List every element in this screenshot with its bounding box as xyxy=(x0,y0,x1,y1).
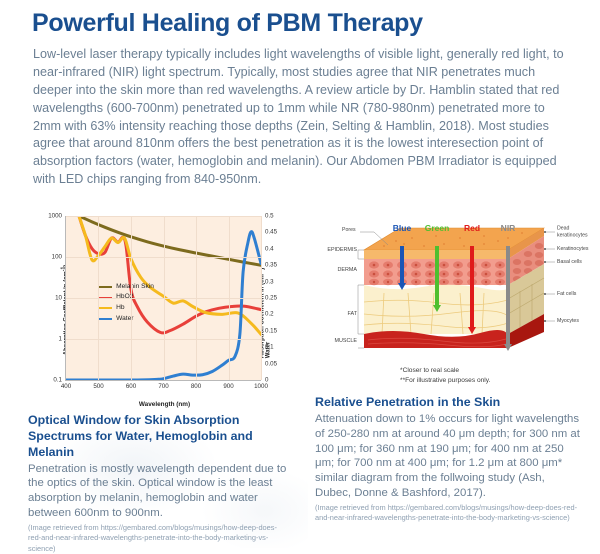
chart-legend: Melanin SkinHbO2HbWater xyxy=(99,282,154,325)
beam-label-green: Green xyxy=(425,223,450,233)
poster-page: Powerful Healing of PBM Therapy Low-leve… xyxy=(0,0,600,548)
chart-ytick-right: 0.1 xyxy=(265,344,274,351)
chart-gridline-h xyxy=(66,339,261,340)
legend-item-hb: Hb xyxy=(99,303,154,314)
caption-left-title: Optical Window for Skin Absorption Spect… xyxy=(28,413,290,461)
footnote-scale: *Closer to real scale xyxy=(400,366,490,376)
chart-gridline-h xyxy=(66,298,261,299)
chart-ytick-left: 1000 xyxy=(48,213,62,220)
chart-xtick: 600 xyxy=(126,383,136,390)
chart-ytick-right: 0.05 xyxy=(265,360,277,367)
cell-label-fat-cells: Fat cells xyxy=(557,291,597,298)
caption-left-body: Penetration is mostly wavelength depende… xyxy=(28,462,290,521)
absorption-chart: Absorption Coefficient in (cm-1)Melanin,… xyxy=(22,212,307,407)
chart-gridline-h xyxy=(66,216,261,217)
caption-right-source: (Image retrieved from https://gembared.c… xyxy=(315,503,583,524)
beam-arrow-blue xyxy=(400,246,404,284)
intro-paragraph: Low-level laser therapy typically includ… xyxy=(33,46,569,189)
page-title: Powerful Healing of PBM Therapy xyxy=(32,9,423,38)
diagram-footnotes: *Closer to real scale **For illustrative… xyxy=(400,366,490,386)
beam-arrowhead-icon xyxy=(433,305,441,312)
footnote-illustrative: **For illustrative purposes only. xyxy=(400,376,490,386)
chart-ytick-right: 0.15 xyxy=(265,327,277,334)
chart-xtick: 400 xyxy=(61,383,71,390)
legend-item-water: Water xyxy=(99,314,154,325)
legend-swatch-icon xyxy=(99,318,112,320)
beam-arrowhead-icon xyxy=(398,283,406,290)
chart-ytick-right: 0.25 xyxy=(265,295,277,302)
legend-label: Hb xyxy=(116,303,124,314)
chart-plot-area: Melanin SkinHbO2HbWater 0.1110100100000.… xyxy=(65,216,261,381)
beam-label-blue: Blue xyxy=(393,223,411,233)
beam-arrow-green xyxy=(435,246,439,306)
layer-label-muscle: MUSCLE xyxy=(335,338,357,344)
chart-xtick: 800 xyxy=(191,383,201,390)
beam-arrow-red xyxy=(470,246,474,328)
chart-ytick-right: 0.45 xyxy=(265,229,277,236)
chart-xtick: 500 xyxy=(93,383,103,390)
beam-arrowhead-icon xyxy=(504,344,512,351)
layer-label-derma: DERMA xyxy=(338,267,357,273)
chart-xtick: 1000 xyxy=(254,383,268,390)
beam-arrow-nir xyxy=(506,246,510,345)
chart-gridline-h xyxy=(66,257,261,258)
chart-ytick-left: 1 xyxy=(59,336,62,343)
chart-xtick: 700 xyxy=(158,383,168,390)
layer-label-fat: FAT xyxy=(348,311,357,317)
cell-label-dead-keratinocytes: Dead keratinocytes xyxy=(557,226,597,239)
chart-xtick: 900 xyxy=(223,383,233,390)
layer-label-epidermis: EPIDERMIS xyxy=(327,247,357,253)
caption-left-source: (Image retrieved from https://gembared.c… xyxy=(28,523,290,554)
skin-penetration-diagram: Pores BlueGreenRedNIR EPIDERMISDERMAFATM… xyxy=(312,214,598,396)
caption-right-body: Attenuation down to 1% occurs for light … xyxy=(315,412,583,501)
beam-arrowhead-icon xyxy=(468,327,476,334)
cell-label-basal-cells: Basal cells xyxy=(557,259,597,266)
chart-ytick-right: 0.3 xyxy=(265,278,274,285)
chart-ytick-right: 0.35 xyxy=(265,262,277,269)
pores-label: Pores xyxy=(342,227,356,233)
chart-ytick-left: 100 xyxy=(52,254,62,261)
beam-label-red: Red xyxy=(464,223,480,233)
chart-x-axis-title: Wavelength (nm) xyxy=(22,401,307,408)
cell-label-myocytes: Myocytes xyxy=(557,318,597,325)
chart-ytick-right: 0.5 xyxy=(265,213,274,220)
caption-left: Optical Window for Skin Absorption Spect… xyxy=(28,413,290,554)
chart-ytick-right: 0.2 xyxy=(265,311,274,318)
chart-ytick-left: 10 xyxy=(55,295,62,302)
beam-label-nir: NIR xyxy=(501,223,516,233)
cell-label-keratinocytes: Keratinocytes xyxy=(557,246,597,253)
caption-right: Relative Penetration in the Skin Attenua… xyxy=(315,395,583,524)
chart-gridline-v xyxy=(261,216,262,380)
legend-swatch-icon xyxy=(99,307,112,309)
chart-ytick-right: 0.4 xyxy=(265,245,274,252)
legend-label: Melanin Skin xyxy=(116,282,154,293)
caption-right-title: Relative Penetration in the Skin xyxy=(315,395,583,411)
legend-item-melanin-skin: Melanin Skin xyxy=(99,282,154,293)
legend-swatch-icon xyxy=(99,286,112,288)
